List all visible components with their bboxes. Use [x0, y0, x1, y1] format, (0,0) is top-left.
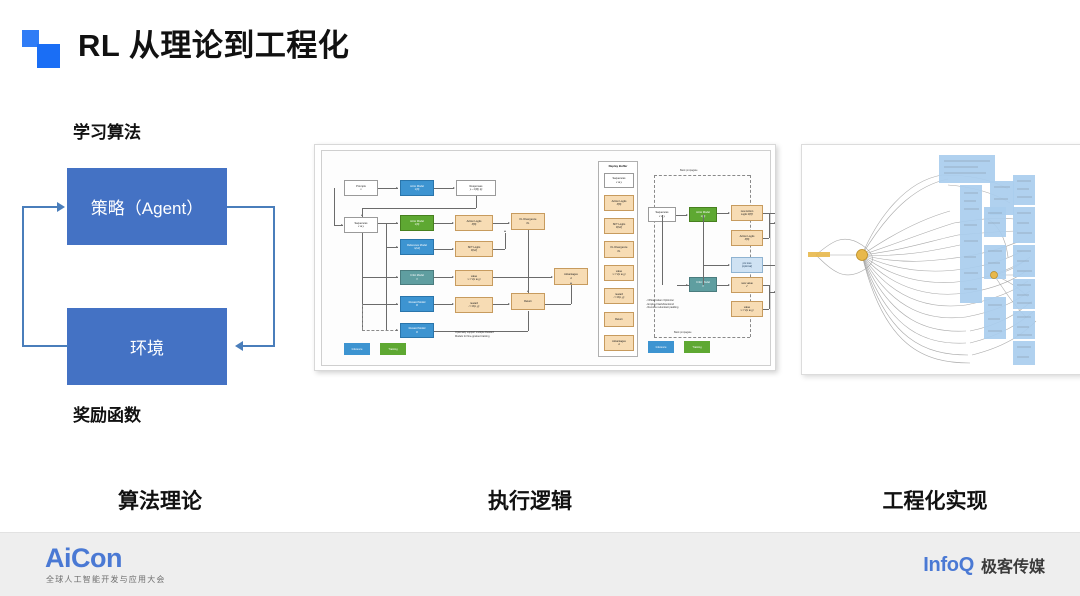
buffer-item-sft-logits: SFT Logits P(ref) — [604, 218, 634, 234]
edge-seq-critic-bus — [703, 215, 704, 285]
node-sublabel: x ⊕ y — [358, 225, 364, 228]
node-reference-model: Reference Model π(ref) — [400, 239, 434, 255]
node-sublabel: Logits P(θ)' — [741, 213, 753, 216]
node-label: Return — [524, 300, 532, 303]
agent-policy-box: 策略（Agent） — [67, 168, 227, 245]
edge-response-down — [476, 196, 477, 208]
wire-right-down — [273, 206, 275, 346]
engineering-note: - Offload Adam Optimizer - Employ FlashA… — [646, 299, 708, 310]
edge-sft-kl-v — [505, 233, 506, 249]
node-sublabel: P(ref) — [471, 249, 477, 252]
node-reward: reward r = R(x, y) — [455, 297, 493, 313]
buffer-item-action-logits: Action Logits P(θ) — [604, 195, 634, 211]
label-backprop-top: Back propagate — [680, 169, 698, 172]
node-sublabel: y ~ π(θ)(·|x) — [470, 188, 483, 191]
buffer-item-kl-divergence: KL Divergence KL — [604, 241, 634, 258]
arrow-seqr-criticr — [686, 284, 688, 286]
aicon-logo: AiCon 全球人工智能开发与应用大会 — [45, 543, 245, 587]
arrow-rew-return — [508, 303, 510, 305]
infoq-name: InfoQ — [923, 554, 974, 576]
buffer-item-reward: reward r = R(x, y) — [604, 288, 634, 304]
node-prompts: Prompts x — [344, 180, 378, 196]
buffer-item-sublabel: r = R(x, y) — [614, 296, 625, 299]
node-reward-model: Reward Model R — [400, 296, 434, 312]
label-backprop-bottom: Back propagate — [674, 331, 692, 334]
node-sublabel: π(ref) — [414, 247, 420, 250]
arrow-ref-sft — [452, 248, 454, 250]
arrow-prompt-actor — [396, 187, 398, 189]
edge-ratio-merge-v — [769, 213, 770, 238]
node-sublabel: x — [360, 188, 361, 191]
buffer-item-sublabel: x ⊕ y — [616, 181, 622, 184]
edge-seq-reward — [362, 304, 398, 305]
replay-buffer-panel: Replay Buffer Sequences x ⊕ y Action Log… — [598, 161, 638, 357]
buffer-item-return: Return — [604, 312, 634, 327]
node-reward-model-extra: Reward Model R — [400, 323, 434, 338]
wire-env-left — [22, 345, 68, 347]
execution-pipeline-image[interactable]: Prompts x Actor Model π(θ) Responses y ~… — [314, 144, 776, 371]
legend-training-left: Training — [380, 343, 406, 355]
infoq-logo: InfoQ 极客传媒 — [923, 553, 1045, 577]
edge-backprop-top — [654, 175, 750, 176]
slide-header: RL 从理论到工程化 — [0, 0, 1080, 100]
arrow-actorr-ptx — [728, 264, 730, 266]
arrow-value-adv — [551, 276, 553, 278]
edge-kl-return — [528, 230, 529, 293]
buffer-item-sublabel: KL — [618, 250, 621, 253]
edge-sft-kl-h — [493, 249, 505, 250]
edge-actorr-ptx-h — [703, 265, 729, 266]
arrowhead-into-env — [235, 341, 243, 351]
node-sublabel: v' — [746, 285, 748, 288]
aicon-wordmark: AiCon — [45, 543, 122, 574]
arrow-actor-logits — [452, 222, 454, 224]
logo-square-large — [37, 44, 60, 68]
aicon-tagline: 全球人工智能开发与应用大会 — [46, 574, 166, 585]
arrowhead-into-agent — [57, 202, 65, 212]
brand-squares-icon — [22, 30, 64, 70]
legend-training-right: Training — [684, 341, 710, 353]
multi-reward-note: Optionally support multiple Reward Model… — [455, 331, 545, 338]
buffer-item-sublabel: P(θ) — [617, 203, 621, 206]
node-new-value: new value v' — [731, 277, 763, 293]
pipeline-canvas: Prompts x Actor Model π(θ) Responses y ~… — [321, 150, 771, 366]
dependency-graph-svg — [802, 145, 1080, 374]
buffer-item-sublabel: v = V(x ⊕ y) — [613, 273, 626, 276]
legend-inference-right: Inference — [648, 341, 674, 353]
replay-buffer-title: Replay Buffer — [599, 164, 637, 168]
edge-logits-kl — [493, 223, 509, 224]
edge-ref-sft — [434, 249, 453, 250]
node-sublabel: v = V(x ⊕ y) — [468, 278, 481, 281]
wire-into-agent — [22, 206, 58, 208]
infoq-cn-name: 极客传媒 — [981, 553, 1045, 577]
edge-backprop-bottom — [654, 337, 750, 338]
node-sublabel: π(θ) — [415, 223, 420, 226]
node-value: value v = V(x ⊕ y) — [455, 270, 493, 286]
node-sublabel: V — [702, 285, 704, 288]
environment-box: 环境 — [67, 308, 227, 385]
node-new-action-logits: new Action Logits P(θ)' — [731, 205, 763, 221]
arrow-sft-kl — [504, 230, 506, 232]
edge-seq-reward2 — [362, 330, 398, 331]
node-sublabel: R — [416, 304, 418, 307]
slide-footer: AiCon 全球人工智能开发与应用大会 InfoQ 极客传媒 — [0, 532, 1080, 596]
edge-seq-actor — [378, 223, 398, 224]
edge-response-left — [362, 208, 476, 209]
wire-agent-right — [227, 206, 275, 208]
arrow-kl-return — [527, 290, 529, 292]
arrow-seqr-actorr — [686, 214, 688, 216]
graph-hub-node — [857, 250, 868, 261]
arrow-merge-ratio — [774, 222, 776, 224]
wire-into-env — [243, 345, 275, 347]
buffer-item-sublabel: A — [618, 343, 620, 346]
arrow-seq-reward — [396, 303, 398, 305]
wire-left-up — [22, 206, 24, 346]
arrow-reward-rew — [452, 303, 454, 305]
legend-inference-left: Inference — [344, 343, 370, 355]
edge-valuer-clip — [763, 309, 769, 310]
buffer-item-advantages: Advantages A — [604, 335, 634, 351]
arrow-return-adv — [570, 282, 572, 284]
edge-reward-rew — [434, 304, 453, 305]
page-title: RL 从理论到工程化 — [78, 20, 349, 65]
node-value-right: value v = V(x ⊕ y) — [731, 301, 763, 317]
aicon-name: AiCon — [45, 543, 122, 573]
edge-prompt-actor — [378, 188, 398, 189]
edge-value-adv — [493, 277, 552, 278]
edge-actor-response — [434, 188, 454, 189]
node-sublabel: r = R(x, y) — [469, 305, 480, 308]
arrow-seq-critic — [396, 276, 398, 278]
node-old-action-logits: Action Logits P(θ) — [731, 230, 763, 246]
graph-hub-node-2 — [991, 272, 998, 279]
node-responses: Responses y ~ π(θ)(·|x) — [456, 180, 496, 196]
engineering-graph-image[interactable] — [801, 144, 1080, 375]
edge-ptx-actorloss-h — [763, 265, 776, 266]
edge-seq-reward2-dash — [362, 304, 363, 330]
edge-seq-critic — [362, 277, 398, 278]
buffer-item-sublabel: P(ref) — [616, 226, 622, 229]
node-sublabel: (optional) — [742, 265, 752, 268]
arrow-critic-value — [452, 276, 454, 278]
node-critic-model: Critic Model V — [400, 270, 434, 285]
buffer-item-sequences: Sequences x ⊕ y — [604, 173, 634, 188]
node-actor-model-training: Actor Model π(θ) — [400, 215, 434, 231]
caption-engineering-impl: 工程化实现 — [815, 485, 1055, 515]
arrow-merge-clip — [774, 291, 776, 293]
node-actor-model-inference: Actor Model π(θ) — [400, 180, 434, 196]
node-sublabel: P(θ) — [472, 223, 476, 226]
node-sublabel: π(θ) — [415, 188, 420, 191]
graph-canvas — [802, 145, 1080, 374]
node-sublabel: R — [416, 331, 418, 334]
edge-actor-logits — [434, 223, 453, 224]
caption-execution-logic: 执行逻辑 — [410, 485, 650, 515]
node-sequences: Sequences x ⊕ y — [344, 217, 378, 233]
reward-function-label: 奖励函数 — [0, 401, 257, 426]
node-kl-divergence: KL Divergence KL — [511, 213, 545, 230]
learning-algorithm-label: 学习算法 — [0, 118, 257, 143]
arrow-actor-response — [453, 187, 455, 189]
edge-return-adv-h — [545, 304, 571, 305]
node-sublabel: V — [416, 278, 418, 281]
edge-prompt-down — [334, 188, 335, 225]
arrow-prompt-seq — [341, 224, 343, 226]
node-sublabel: A — [570, 277, 572, 280]
graph-entry-node — [808, 252, 830, 257]
edge-return-adv-v — [571, 285, 572, 304]
edge-critic-value — [434, 277, 453, 278]
node-sublabel: v = V(x ⊕ y) — [741, 309, 754, 312]
buffer-item-label: Return — [615, 318, 623, 321]
node-sublabel: KL — [527, 222, 530, 225]
rl-loop-diagram: 学习算法 策略（Agent） 环境 奖励函数 — [0, 110, 300, 440]
infoq-wordmark: InfoQ — [923, 554, 974, 577]
caption-algorithm-theory: 算法理论 — [40, 485, 280, 515]
edge-oldlogits-ratio — [763, 238, 769, 239]
edge-clip-merge-v — [769, 285, 770, 309]
edge-backprop-left-v — [654, 175, 655, 337]
arrow-logits-kl — [508, 222, 510, 224]
arrow-criticr-newvalue — [728, 284, 730, 286]
arrow-seq-reward2 — [396, 329, 398, 331]
edge-rew-return — [493, 304, 509, 305]
node-ptx-loss: ptx loss (optional) — [731, 257, 763, 273]
node-sft-logits: SFT Logits P(ref) — [455, 241, 493, 257]
node-return: Return — [511, 293, 545, 310]
arrow-actorr-newlogits — [728, 212, 730, 214]
node-action-logits: Action Logits P(θ) — [455, 215, 493, 231]
arrow-seq-ref — [396, 246, 398, 248]
arrow-seq-actor — [396, 222, 398, 224]
edge-reward2-bus-v — [528, 311, 529, 331]
graph-nodes — [808, 155, 1035, 365]
node-sublabel: P(θ) — [745, 238, 749, 241]
arrow-response-seq — [361, 214, 363, 216]
buffer-item-value: value v = V(x ⊕ y) — [604, 265, 634, 281]
edge-seqr-down — [662, 215, 663, 285]
